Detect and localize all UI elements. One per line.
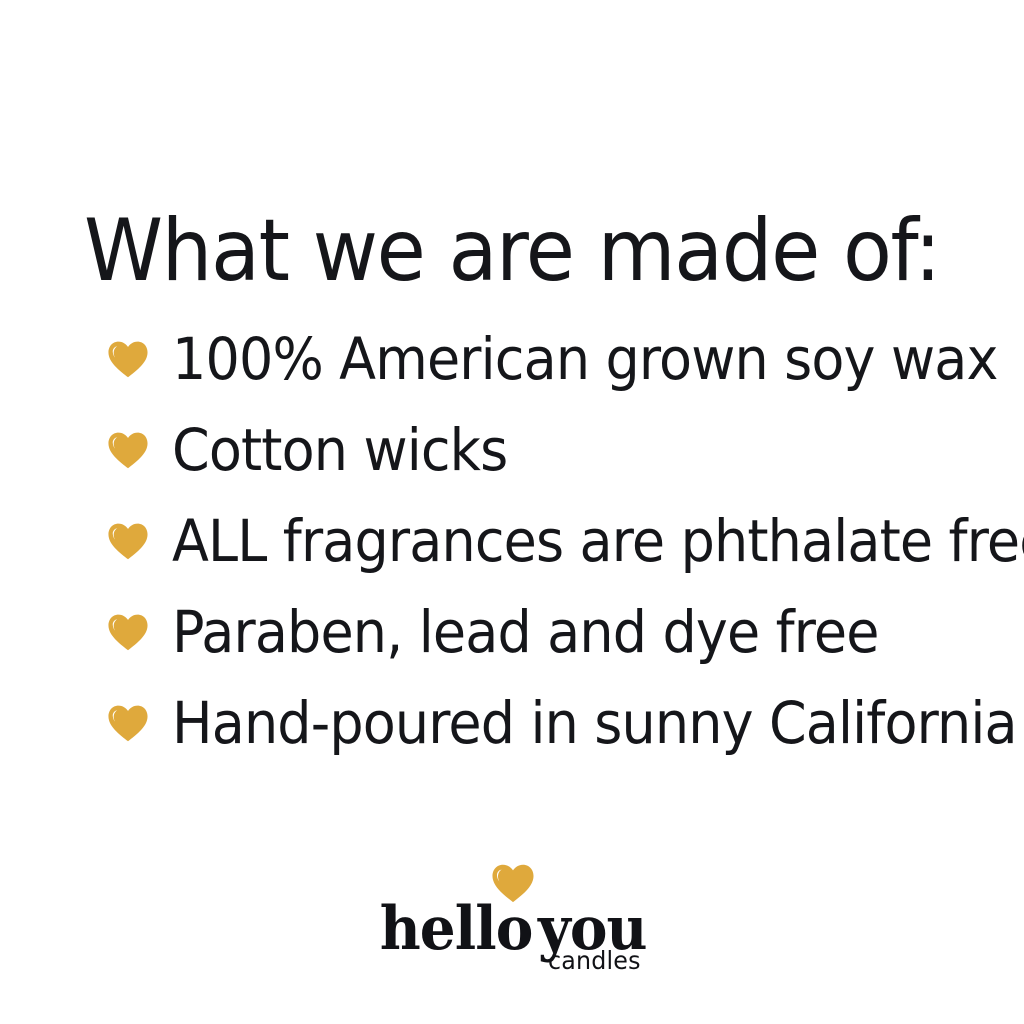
brand-logo: hello you candles <box>0 862 1024 982</box>
list-item-label: Cotton wicks <box>172 421 507 479</box>
list-item: Cotton wicks <box>108 404 988 495</box>
page-title: What we are made of: <box>36 208 988 294</box>
heart-icon <box>108 521 148 561</box>
list-item-label: Paraben, lead and dye free <box>172 603 879 661</box>
heart-icon <box>108 339 148 379</box>
heart-icon <box>108 703 148 743</box>
logo-word-hello: hello <box>380 898 533 960</box>
heart-icon <box>108 612 148 652</box>
list-item: Paraben, lead and dye free <box>108 586 988 677</box>
list-item-label: 100% American grown soy wax <box>172 330 998 388</box>
logo-tagline: candles <box>548 948 641 973</box>
list-item-label: ALL fragrances are phthalate free! <box>172 512 1024 570</box>
logo-wordmark: hello you candles <box>370 898 654 966</box>
list-item: Hand-poured in sunny California <box>108 677 988 768</box>
ingredients-list: 100% American grown soy wax Cotton wicks… <box>108 313 988 768</box>
logo-word-you-group: you candles <box>538 898 654 960</box>
promo-card: What we are made of: 100% American grown… <box>0 0 1024 1024</box>
heart-icon <box>108 430 148 470</box>
list-item-label: Hand-poured in sunny California <box>172 694 1017 752</box>
list-item: 100% American grown soy wax <box>108 313 988 404</box>
list-item: ALL fragrances are phthalate free! <box>108 495 988 586</box>
